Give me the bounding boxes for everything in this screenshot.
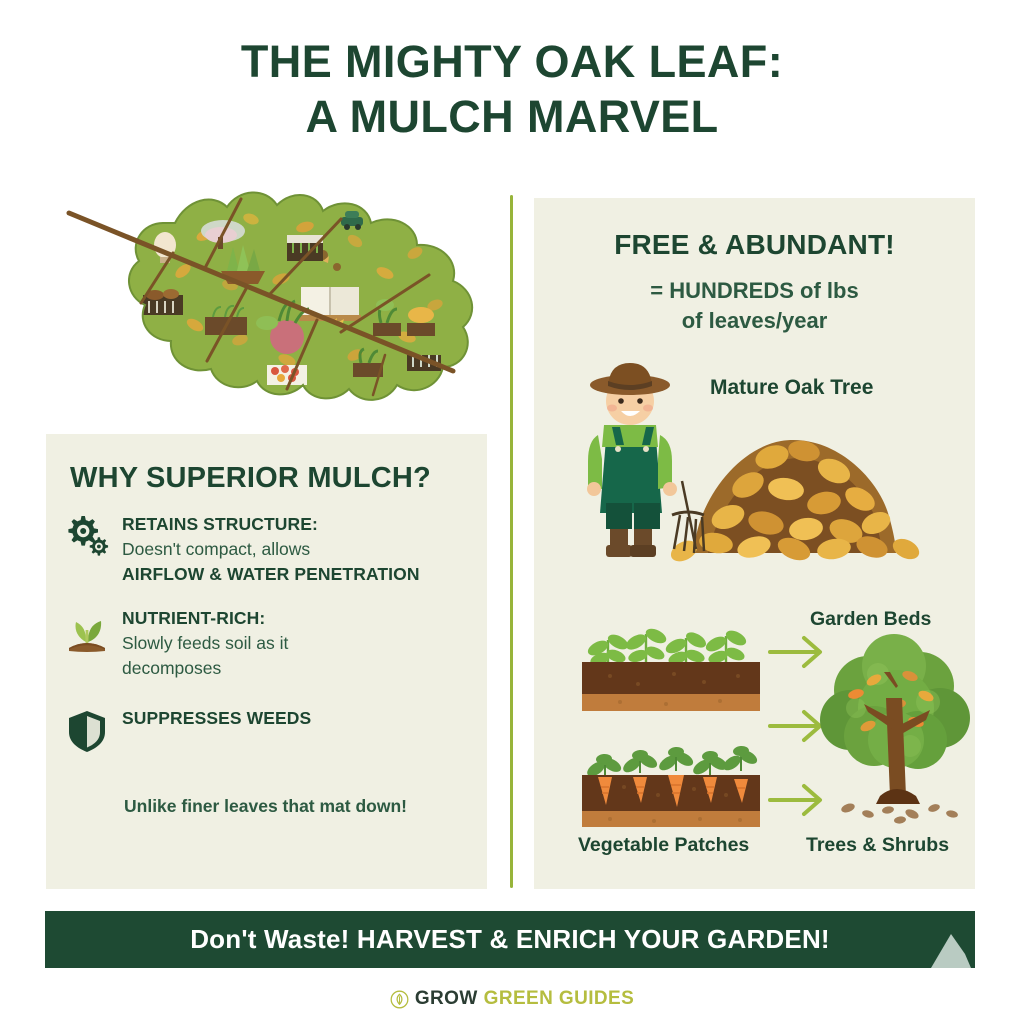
benefit-2-head: NUTRIENT-RICH: — [122, 606, 288, 631]
brand-name-secondary: GREEN GUIDES — [484, 988, 635, 1010]
benefit-1-head: RETAINS STRUCTURE: — [122, 512, 420, 537]
oak-leaf-illustration — [55, 175, 510, 405]
label-trees-shrubs: Trees & Shrubs — [806, 834, 949, 857]
free-abundant-panel: FREE & ABUNDANT! = HUNDREDS of lbs of le… — [534, 198, 975, 889]
right-panel-subtitle-1: = HUNDREDS of lbs — [534, 278, 975, 304]
vertical-divider — [510, 195, 513, 888]
seedling-icon — [56, 606, 118, 654]
mountain-notch-decoration — [905, 928, 975, 968]
benefit-retains-structure: RETAINS STRUCTURE: Doesn't compact, allo… — [56, 512, 476, 587]
vegetable-patch-illustration — [580, 743, 762, 838]
left-panel-footnote: Unlike finer leaves that mat down! — [124, 796, 407, 817]
page-title: THE MIGHTY OAK LEAF: A MULCH MARVEL — [0, 34, 1024, 144]
why-superior-mulch-panel: WHY SUPERIOR MULCH? RETAINS STRUC — [46, 434, 487, 889]
oak-leaf-svg — [55, 175, 510, 405]
benefit-nutrient-rich: NUTRIENT-RICH: Slowly feeds soil as it d… — [56, 606, 476, 681]
leaf-pile — [667, 438, 922, 566]
benefit-2-caps: decomposes — [122, 656, 288, 681]
fallen-leaf-litter — [840, 802, 959, 824]
brand-name-primary: GROW — [415, 988, 478, 1010]
title-line-2: A MULCH MARVEL — [0, 89, 1024, 144]
left-panel-heading: WHY SUPERIOR MULCH? — [70, 462, 431, 495]
title-line-1: THE MIGHTY OAK LEAF: — [0, 34, 1024, 89]
gardener-figure — [587, 363, 677, 557]
benefit-1-caps: AIRFLOW & WATER PENETRATION — [122, 562, 420, 587]
label-vegetable-patches: Vegetable Patches — [578, 834, 749, 857]
gears-icon — [56, 512, 118, 560]
leaf-badge-icon — [390, 990, 409, 1009]
benefit-suppresses-weeds: SUPPRESSES WEEDS — [56, 706, 476, 754]
shield-icon — [56, 706, 118, 754]
right-panel-title: FREE & ABUNDANT! — [534, 229, 975, 261]
banner-text: Don't Waste! HARVEST & ENRICH YOUR GARDE… — [45, 911, 975, 968]
benefit-3-head: SUPPRESSES WEEDS — [122, 706, 311, 731]
right-panel-subtitle-2: of leaves/year — [534, 308, 975, 334]
footer-brand: GROW GREEN GUIDES — [0, 988, 1024, 1010]
call-to-action-banner: Don't Waste! HARVEST & ENRICH YOUR GARDE… — [45, 911, 975, 968]
label-mature-oak-tree: Mature Oak Tree — [710, 376, 873, 400]
benefit-2-sub: Slowly feeds soil as it — [122, 631, 288, 656]
tree-shrub-illustration — [812, 628, 980, 826]
benefit-1-sub: Doesn't compact, allows — [122, 537, 420, 562]
infographic-canvas: THE MIGHTY OAK LEAF: A MULCH MARVEL — [0, 0, 1024, 1024]
garden-bed-illustration — [580, 616, 762, 716]
